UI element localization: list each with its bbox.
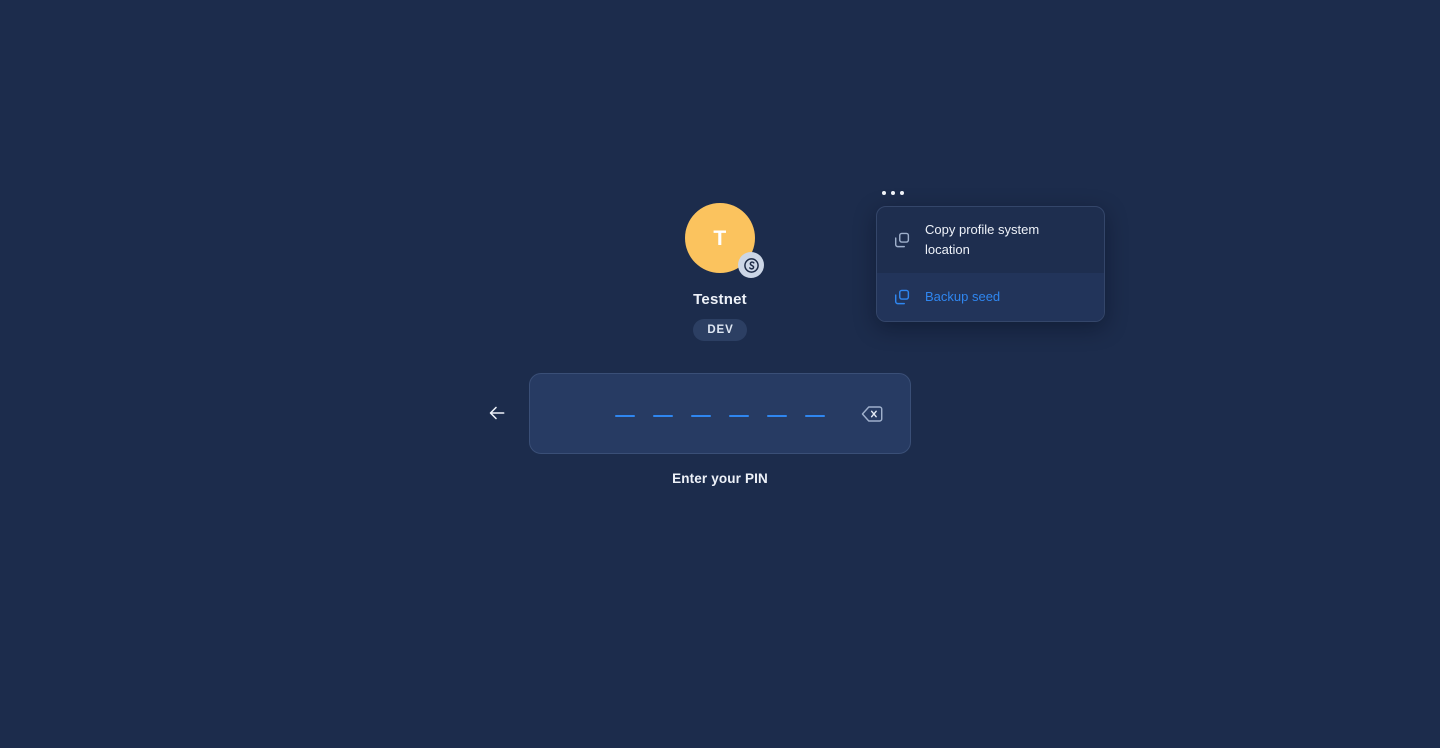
copy-icon [893, 288, 911, 306]
menu-item-backup-seed[interactable]: Backup seed [877, 273, 1104, 321]
profile-block: T Testnet DEV [0, 203, 1440, 341]
copy-icon [893, 231, 911, 249]
lock-screen: T Testnet DEV Copy profile syste [0, 0, 1440, 748]
pin-input[interactable] [529, 373, 911, 454]
menu-item-label: Backup seed [925, 287, 1000, 307]
pin-digit-slot [615, 415, 635, 417]
profile-name: Testnet [693, 291, 747, 308]
menu-item-label: Copy profile system location [925, 220, 1075, 260]
pin-caption: Enter your PIN [0, 471, 1440, 486]
arrow-left-icon[interactable] [484, 400, 510, 426]
kebab-dot [882, 191, 886, 195]
backspace-icon[interactable] [860, 403, 884, 425]
pin-digit-placeholders [530, 415, 910, 417]
sync-logo-icon [738, 252, 764, 278]
pin-digit-slot [653, 415, 673, 417]
profile-context-menu: Copy profile system location Backup seed [876, 206, 1105, 322]
menu-item-copy-profile-location[interactable]: Copy profile system location [877, 207, 1104, 273]
avatar[interactable]: T [685, 203, 755, 273]
pin-digit-slot [691, 415, 711, 417]
pin-digit-slot [767, 415, 787, 417]
pin-digit-slot [805, 415, 825, 417]
kebab-dot [891, 191, 895, 195]
pin-digit-slot [729, 415, 749, 417]
more-horizontal-icon[interactable] [876, 181, 912, 205]
kebab-dot [900, 191, 904, 195]
status-badge: DEV [693, 319, 746, 341]
